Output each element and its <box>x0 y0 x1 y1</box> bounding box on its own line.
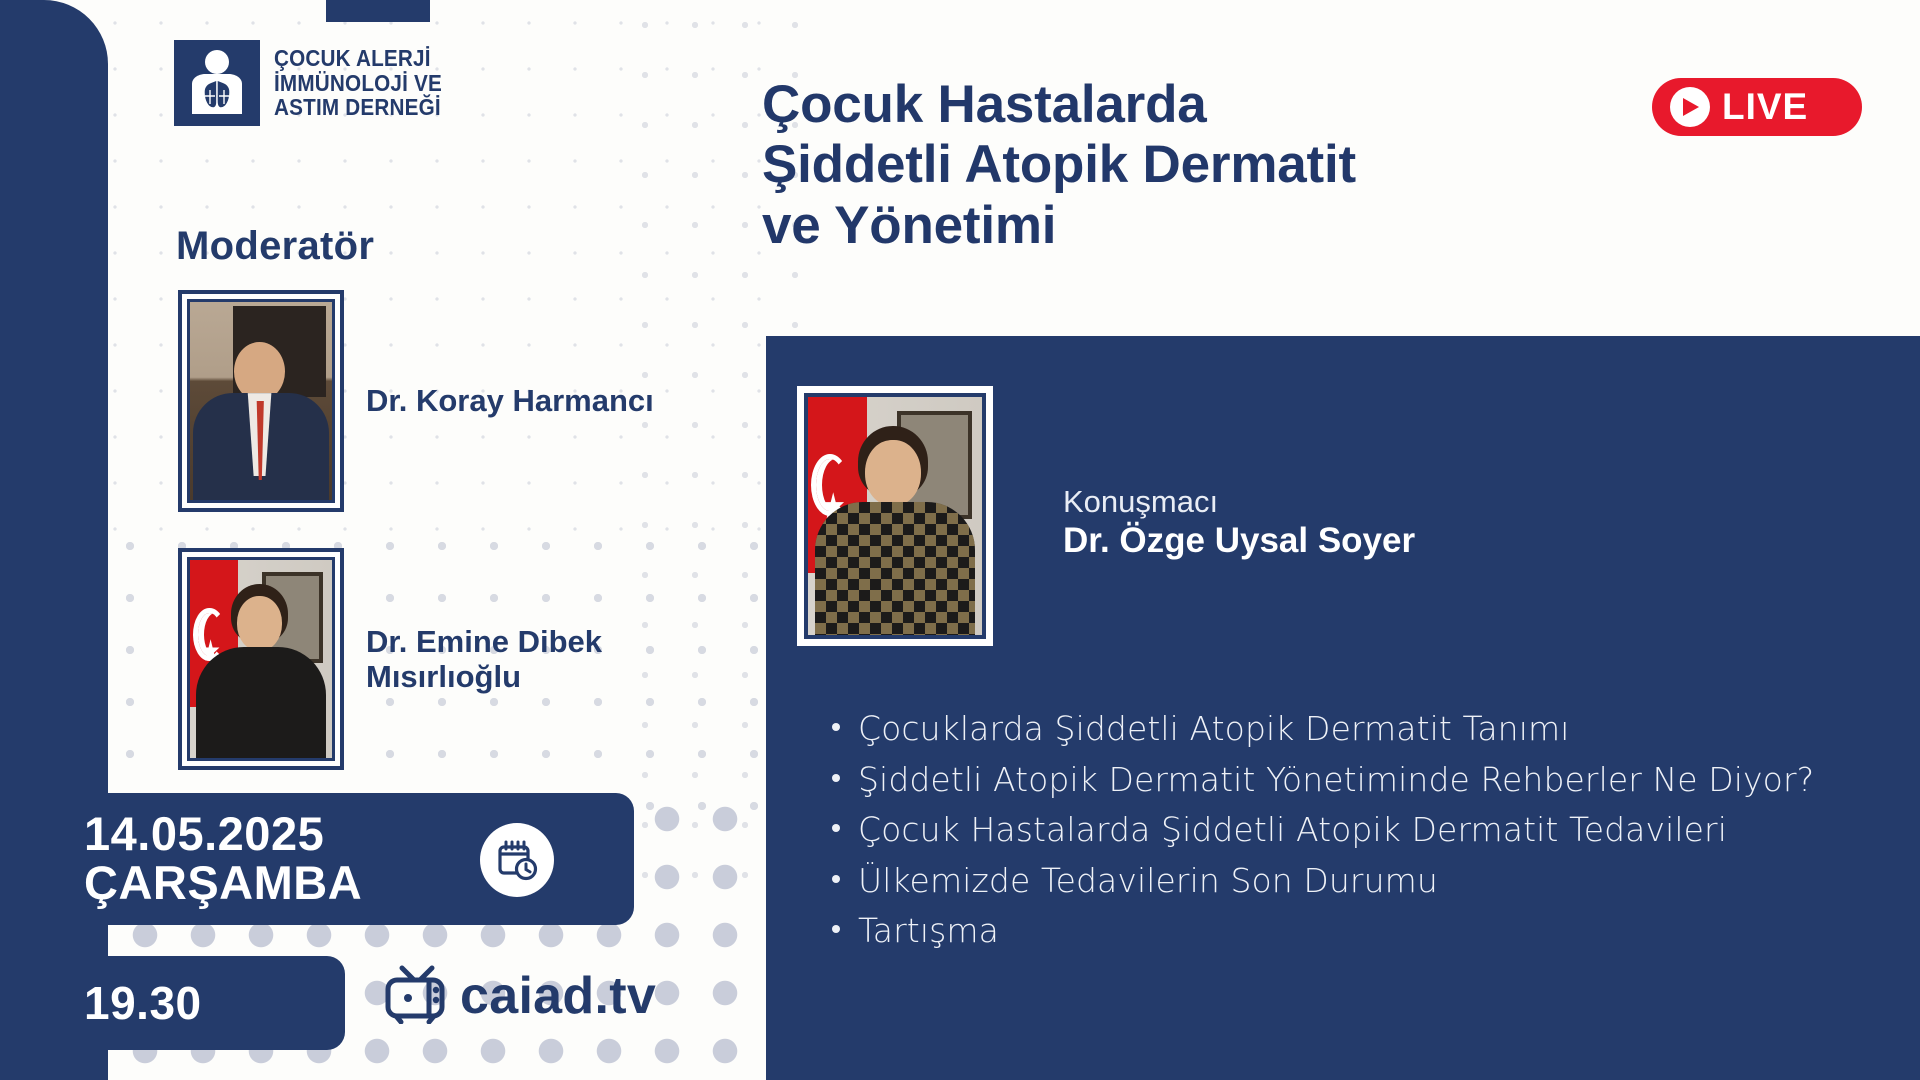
list-item: Tartışma <box>824 909 1864 954</box>
tv-icon <box>380 962 450 1029</box>
time-value: 19.30 <box>84 976 202 1030</box>
moderator-2-name: Dr. Emine Dibek Mısırlıoğlu <box>366 624 656 695</box>
logo-line-3: ASTIM DERNEĞİ <box>274 95 442 119</box>
title-line-3: ve Yönetimi <box>762 196 1662 256</box>
moderator-1-photo-frame <box>178 290 344 512</box>
portrait-ozge-uysal-soyer <box>804 393 986 639</box>
portrait-koray-harmanci <box>187 299 335 503</box>
broadcast-channel[interactable]: caiad.tv <box>380 962 656 1029</box>
speaker-role-label: Konuşmacı <box>1063 484 1218 520</box>
date-text: 14.05.2025 ÇARŞAMBA <box>84 810 362 908</box>
poster-canvas: ÇOCUK ALERJİ İMMÜNOLOJİ VE ASTIM DERNEĞİ… <box>0 0 1920 1080</box>
day-value: ÇARŞAMBA <box>84 859 362 908</box>
page-title: Çocuk Hastalarda Şiddetli Atopik Dermati… <box>762 75 1662 256</box>
list-item: Çocuk Hastalarda Şiddetli Atopik Dermati… <box>824 808 1864 853</box>
moderator-heading: Moderatör <box>176 224 374 269</box>
play-icon <box>1670 87 1710 127</box>
speaker-name: Dr. Özge Uysal Soyer <box>1063 521 1415 561</box>
calendar-clock-icon <box>480 823 554 897</box>
logo-text: ÇOCUK ALERJİ İMMÜNOLOJİ VE ASTIM DERNEĞİ <box>274 46 442 119</box>
logo-line-1: ÇOCUK ALERJİ <box>274 46 442 70</box>
title-line-1: Çocuk Hastalarda <box>762 75 1662 135</box>
top-accent-tab <box>326 0 430 22</box>
date-badge: 14.05.2025 ÇARŞAMBA <box>0 793 634 925</box>
association-logo: ÇOCUK ALERJİ İMMÜNOLOJİ VE ASTIM DERNEĞİ <box>174 40 461 126</box>
moderator-2-photo-frame <box>178 548 344 770</box>
live-badge[interactable]: LIVE <box>1652 78 1862 136</box>
person-lungs-icon <box>174 40 260 126</box>
topics-list: Çocuklarda Şiddetli Atopik Dermatit Tanı… <box>824 707 1864 960</box>
title-line-2: Şiddetli Atopik Dermatit <box>762 135 1662 195</box>
portrait-emine-dibek-misirlioglu <box>187 557 335 761</box>
speaker-photo-frame <box>797 386 993 646</box>
time-badge: 19.30 <box>0 956 345 1050</box>
moderator-1: Dr. Koray Harmancı <box>178 290 654 512</box>
date-value: 14.05.2025 <box>84 810 362 859</box>
logo-line-2: İMMÜNOLOJİ VE <box>274 71 442 95</box>
broadcast-site: caiad.tv <box>460 966 656 1026</box>
list-item: Şiddetli Atopik Dermatit Yönetiminde Reh… <box>824 758 1864 803</box>
list-item: Ülkemizde Tedavilerin Son Durumu <box>824 859 1864 904</box>
live-label: LIVE <box>1722 86 1808 128</box>
moderator-2: Dr. Emine Dibek Mısırlıoğlu <box>178 548 656 770</box>
list-item: Çocuklarda Şiddetli Atopik Dermatit Tanı… <box>824 707 1864 752</box>
moderator-1-name: Dr. Koray Harmancı <box>366 383 654 418</box>
